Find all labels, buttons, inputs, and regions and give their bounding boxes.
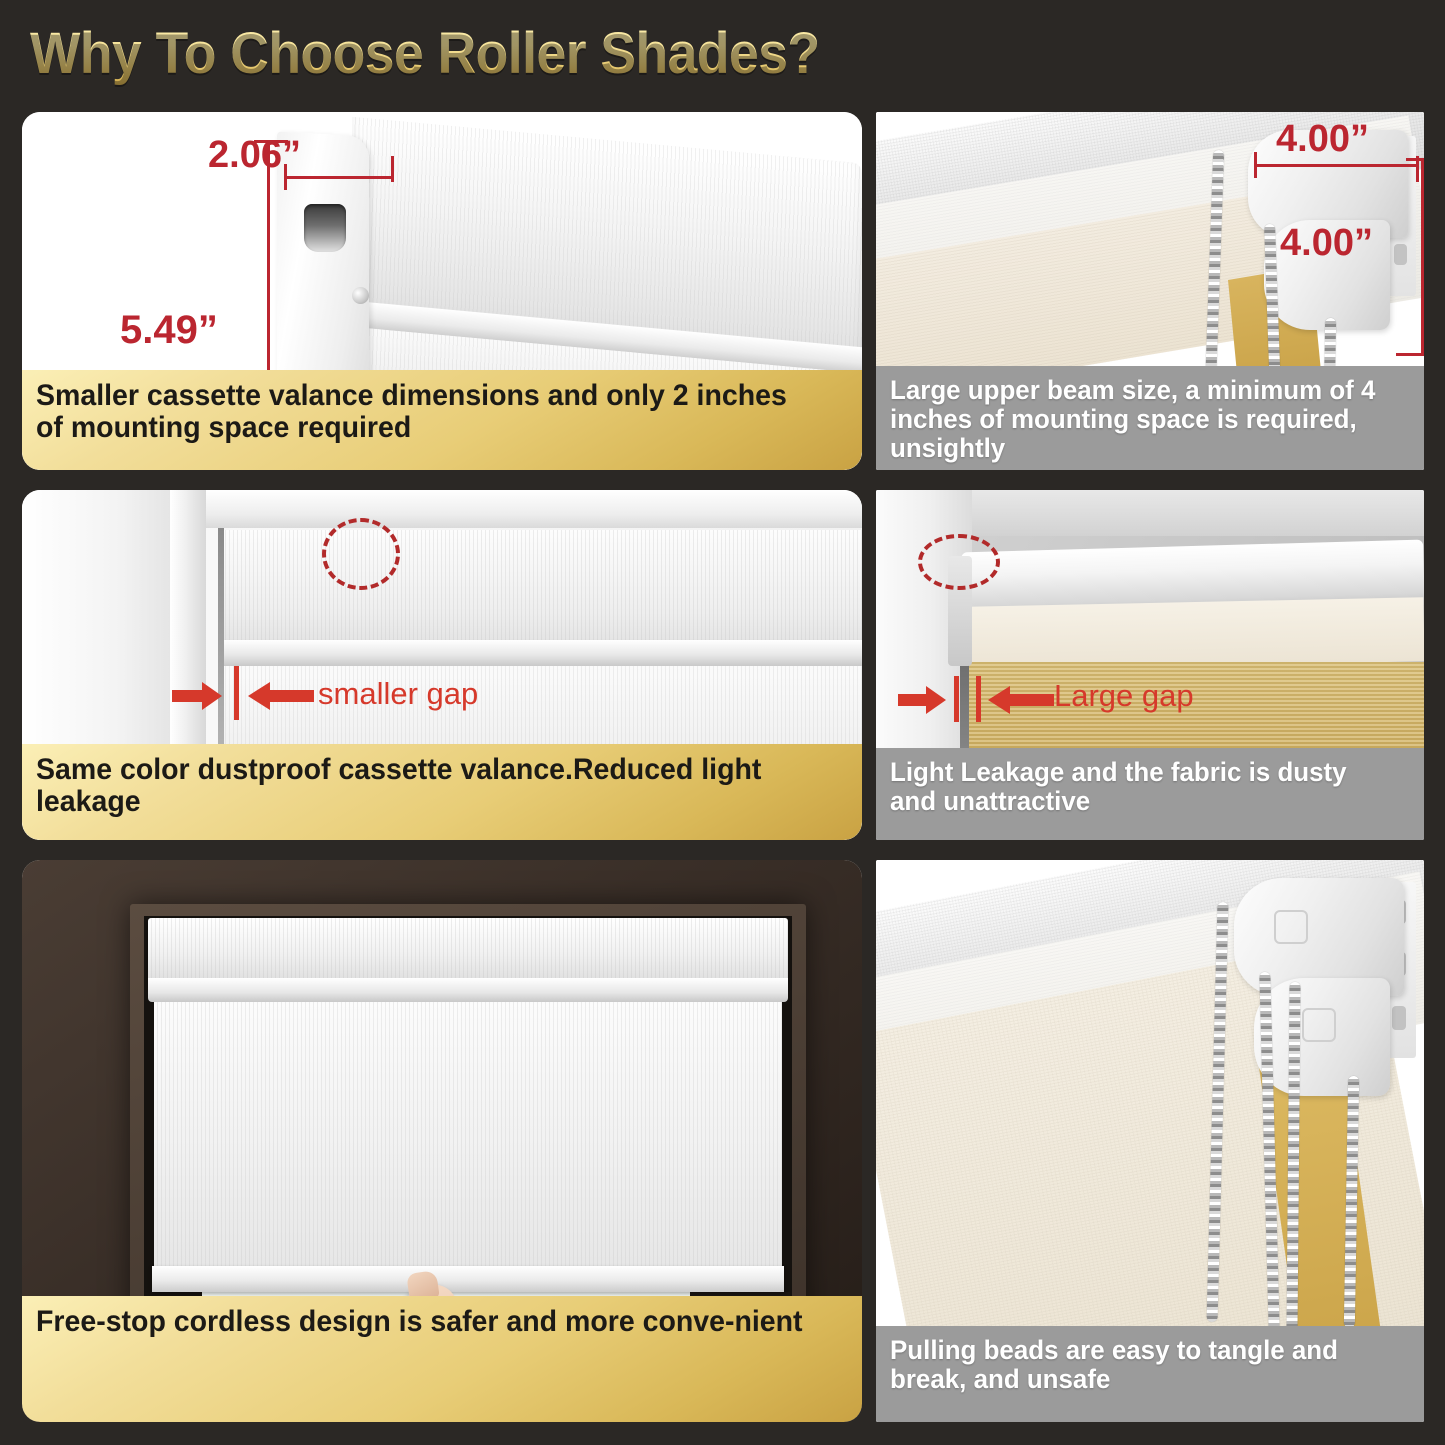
- beam-width-dimension-line: [1254, 164, 1419, 167]
- beam-height-dimension-line: [1421, 158, 1424, 356]
- beam-height-tick-bottom: [1396, 353, 1424, 356]
- window-header-casing: [170, 490, 862, 528]
- panel-large-upper-beam: 4.00” 4.00” Large upper beam size, a min…: [876, 112, 1424, 470]
- caption-text: Smaller cassette valance dimensions and …: [36, 380, 807, 445]
- bracket-slot: [304, 204, 346, 252]
- caption-text: Large upper beam size, a minimum of 4 in…: [890, 376, 1389, 463]
- highlight-circle-icon: [322, 518, 400, 590]
- width-dim-tick-right: [391, 156, 394, 182]
- bracket-emblem-upper-icon: [1274, 910, 1308, 944]
- panel-dustproof-cassette: smaller gap Same color dustproof cassett…: [22, 490, 862, 840]
- caption-text: Pulling beads are easy to tangle and bre…: [890, 1336, 1389, 1394]
- caption-text: Light Leakage and the fabric is dusty an…: [890, 758, 1389, 816]
- beam-width-tick-left: [1254, 152, 1257, 178]
- bottom-rail: [152, 1266, 784, 1292]
- caption-large-upper-beam: Large upper beam size, a minimum of 4 in…: [876, 366, 1424, 470]
- gap-edge-line: [218, 528, 224, 763]
- roller-shade-fabric: [154, 1000, 782, 1272]
- beam-height-tick-top: [1406, 158, 1424, 161]
- highlight-circle-icon: [918, 534, 1000, 590]
- panel-cassette-valance: 5.49” 2.06” Smaller cassette valance dim…: [22, 112, 862, 470]
- valance-divider-rail: [222, 640, 862, 666]
- cassette-valance: [148, 918, 788, 986]
- page-title: Why To Choose Roller Shades?: [30, 18, 1230, 90]
- beam-width-label: 4.00”: [1276, 118, 1369, 161]
- beam-height-label: 4.00”: [1280, 222, 1373, 265]
- caption-text: Free-stop cordless design is safer and m…: [36, 1306, 807, 1338]
- gap-arrow-right-icon: [984, 680, 1054, 720]
- cream-fabric-band: [967, 597, 1424, 671]
- caption-free-stop-cordless: Free-stop cordless design is safer and m…: [22, 1296, 862, 1422]
- caption-cassette-valance: Smaller cassette valance dimensions and …: [22, 370, 862, 470]
- smaller-gap-label: smaller gap: [318, 676, 478, 712]
- caption-dustproof-cassette: Same color dustproof cassette valance.Re…: [22, 744, 862, 840]
- cassette-valance-lip: [148, 978, 788, 1002]
- caption-pulling-beads: Pulling beads are easy to tangle and bre…: [876, 1326, 1424, 1422]
- width-dimension-label: 2.06”: [208, 134, 301, 177]
- gap-arrow-right-icon: [244, 676, 314, 716]
- height-dimension-label: 5.49”: [120, 308, 218, 353]
- large-gap-label: Large gap: [1054, 678, 1194, 714]
- caption-text: Same color dustproof cassette valance.Re…: [36, 754, 807, 819]
- caption-light-leakage: Light Leakage and the fabric is dusty an…: [876, 748, 1424, 840]
- panel-pulling-beads: Pulling beads are easy to tangle and bre…: [876, 860, 1424, 1422]
- bracket-emblem-lower-icon: [1302, 1008, 1336, 1042]
- page-title-text: Why To Choose Roller Shades?: [30, 18, 1134, 90]
- cassette-valance-face: [222, 530, 862, 648]
- panel-light-leakage: Large gap Light Leakage and the fabric i…: [876, 490, 1424, 840]
- bracket-screw: [352, 287, 369, 304]
- panel-free-stop-cordless: Free-stop cordless design is safer and m…: [22, 860, 862, 1422]
